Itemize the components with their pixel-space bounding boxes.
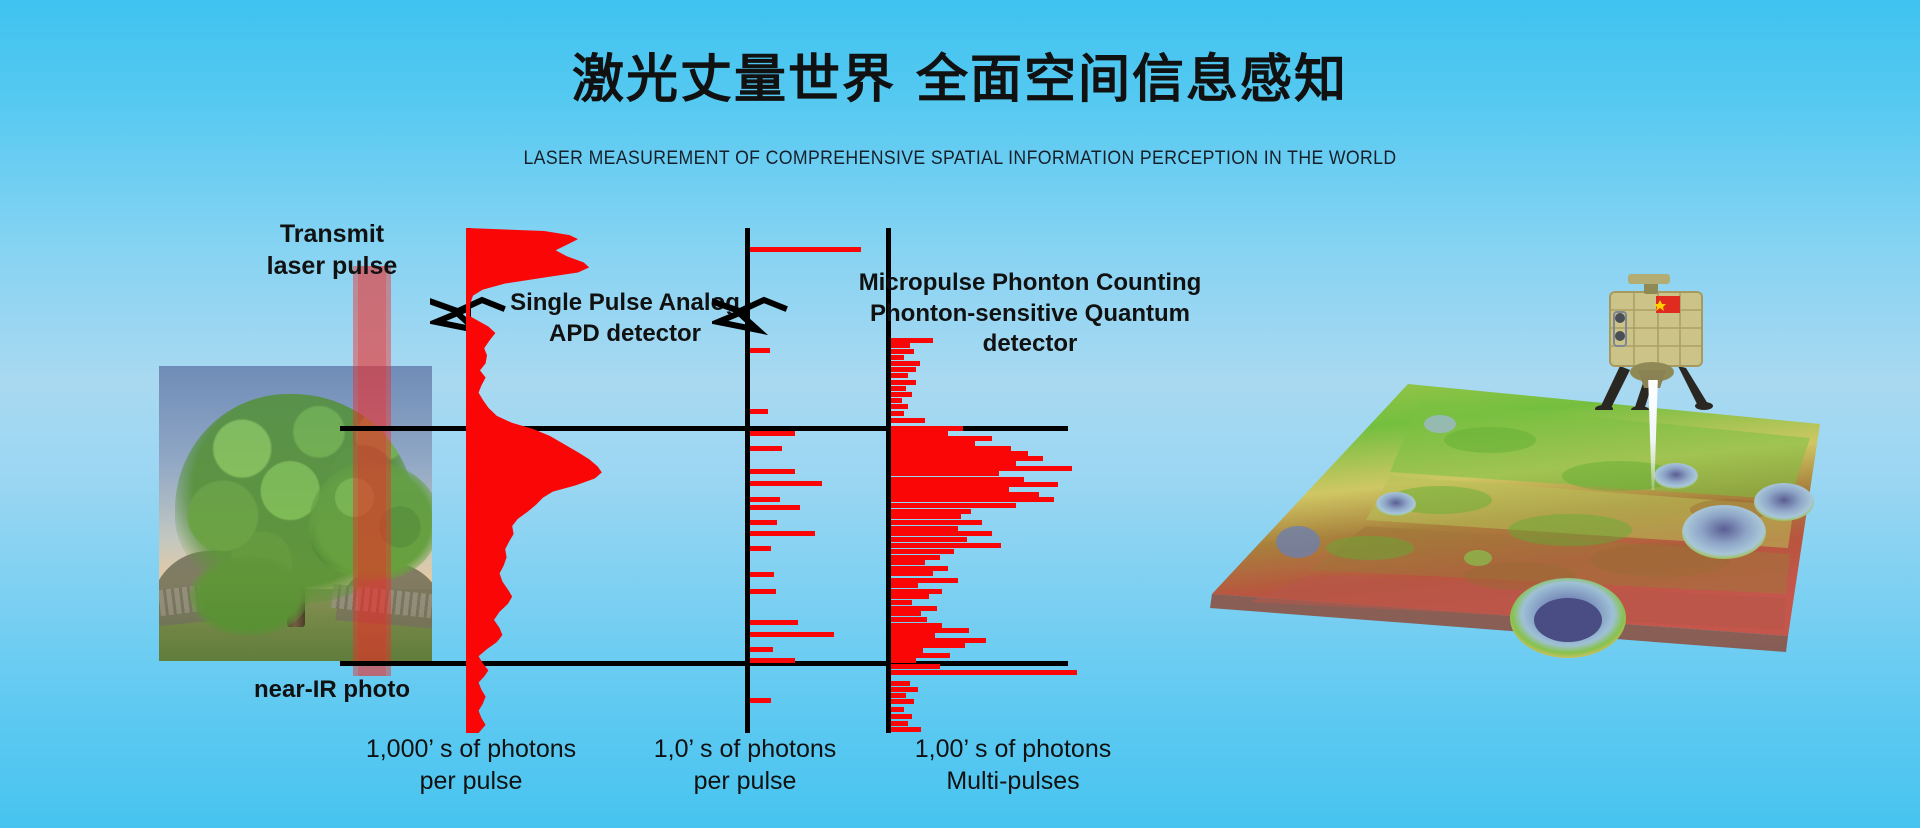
bar — [750, 481, 822, 486]
bar — [891, 707, 904, 712]
bar — [891, 727, 921, 732]
bar — [891, 617, 927, 622]
bar — [750, 348, 770, 353]
bar — [891, 681, 910, 686]
bar — [891, 373, 908, 378]
bar — [750, 446, 782, 451]
panel3-detector-label: Micropulse Phonton Counting Phonton-sens… — [820, 268, 1240, 360]
page-title: 激光丈量世界 全面空间信息感知 — [0, 52, 1920, 109]
bar — [750, 409, 768, 414]
bar — [891, 670, 1077, 675]
bar — [891, 560, 925, 565]
bar — [891, 537, 967, 542]
terrain-3d-model — [1190, 380, 1820, 710]
bar — [750, 632, 834, 637]
bar — [750, 647, 773, 652]
bar — [750, 497, 780, 502]
bar — [750, 505, 800, 510]
bar — [891, 503, 1016, 508]
bar — [750, 698, 771, 703]
bar — [891, 392, 912, 397]
bar — [891, 714, 912, 719]
bar — [750, 531, 815, 536]
bar — [891, 721, 908, 726]
bar — [891, 687, 918, 692]
bar — [891, 514, 961, 519]
bar — [891, 549, 954, 554]
lunar-lidar-scene — [1190, 270, 1820, 720]
bar — [891, 531, 992, 536]
bar — [750, 247, 861, 252]
panel2-caption: 1,0’ s of photons per pulse — [620, 733, 870, 797]
near-ir-photo-label: near-IR photo — [212, 675, 452, 706]
bar — [891, 404, 908, 409]
bar — [891, 380, 916, 385]
bar — [891, 398, 902, 403]
bar — [891, 594, 929, 599]
bar — [891, 543, 1001, 548]
bar — [891, 693, 906, 698]
bar — [891, 411, 904, 416]
bar — [891, 611, 921, 616]
panel1-caption: 1,000’ s of photons per pulse — [346, 733, 596, 797]
page-subtitle: LASER MEASUREMENT OF COMPREHENSIVE SPATI… — [67, 148, 1853, 170]
bar — [750, 520, 777, 525]
bar — [891, 520, 982, 525]
bar — [891, 600, 912, 605]
bar — [750, 431, 795, 436]
photo-color-tint — [159, 366, 432, 661]
bar — [891, 367, 916, 372]
near-ir-photo — [159, 366, 432, 661]
panel3-caption: 1,00’ s of photons Multi-pulses — [888, 733, 1138, 797]
bar — [891, 571, 933, 576]
bar — [750, 658, 795, 663]
bar — [750, 546, 771, 551]
bar — [891, 386, 906, 391]
bar — [891, 361, 920, 366]
bar — [750, 620, 798, 625]
bar — [750, 469, 795, 474]
bar — [750, 572, 774, 577]
bar — [891, 418, 925, 423]
bar — [891, 658, 916, 663]
infographic-stage: 激光丈量世界 全面空间信息感知 LASER MEASUREMENT OF COM… — [0, 0, 1920, 828]
bar — [891, 664, 940, 669]
bar — [750, 589, 776, 594]
laser-beam-core-icon — [358, 266, 386, 676]
bar — [891, 497, 1054, 502]
bar — [891, 583, 918, 588]
transmit-laser-pulse-label: Transmit laser pulse — [232, 218, 432, 282]
bar — [891, 699, 914, 704]
